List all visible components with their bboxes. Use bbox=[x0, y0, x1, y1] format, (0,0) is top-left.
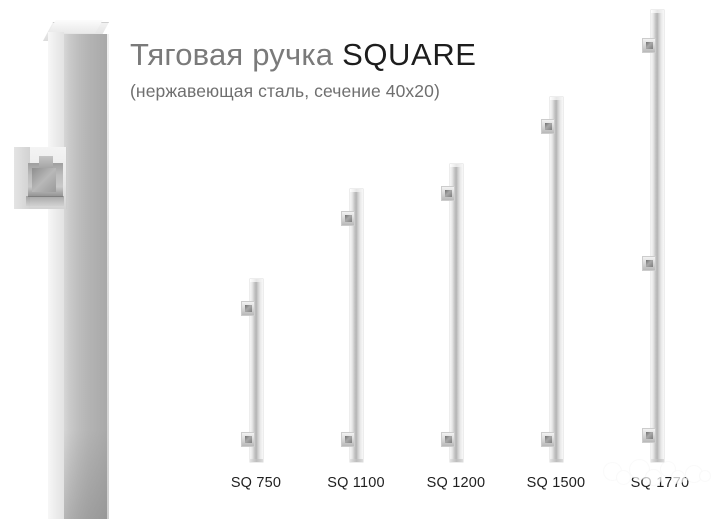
handle-label-sq-1100: SQ 1100 bbox=[327, 475, 385, 491]
handle-bar-bottom-cap bbox=[450, 459, 463, 462]
handle-front-shading bbox=[64, 430, 108, 519]
handle-bracket-2 bbox=[642, 256, 656, 271]
handle-bracket-core bbox=[345, 215, 352, 222]
handle-bar-bottom-cap bbox=[550, 459, 563, 462]
handle-bracket-core bbox=[445, 190, 452, 197]
handle-bar bbox=[350, 189, 363, 462]
handle-bracket-3 bbox=[642, 428, 656, 443]
handle-bar-bottom-cap bbox=[651, 459, 664, 462]
handle-label-sq-1200: SQ 1200 bbox=[427, 475, 486, 491]
handle-bar-bottom-cap bbox=[250, 459, 263, 462]
handle-label-sq-1500: SQ 1500 bbox=[527, 475, 586, 491]
title-model: SQUARE bbox=[342, 37, 477, 72]
handle-bracket-2 bbox=[341, 432, 355, 447]
handle-bracket-core bbox=[245, 436, 252, 443]
mounting-bracket-plate bbox=[39, 156, 53, 168]
handle-bar bbox=[651, 10, 664, 462]
handle-bracket-2 bbox=[441, 432, 455, 447]
handle-bracket-1 bbox=[642, 38, 656, 53]
handle-bar-bottom-cap bbox=[350, 459, 363, 462]
handle-right-edge bbox=[107, 34, 109, 519]
title-russian: Тяговая ручка bbox=[130, 37, 342, 72]
handle-sq-750 bbox=[250, 279, 263, 462]
handle-bar bbox=[550, 97, 563, 462]
mounting-bracket-shadow bbox=[26, 196, 64, 206]
handle-bracket-core bbox=[646, 260, 653, 267]
handle-bracket-2 bbox=[541, 432, 555, 447]
handle-sq-1100 bbox=[350, 189, 363, 462]
handle-bar-top-cap bbox=[350, 189, 363, 192]
handle-bar-top-cap bbox=[450, 164, 463, 167]
handle-sq-1200 bbox=[450, 164, 463, 462]
handle-bracket-core bbox=[545, 123, 552, 130]
handle-bracket-core bbox=[646, 42, 653, 49]
handle-label-sq-750: SQ 750 bbox=[231, 475, 281, 491]
handle-bracket-1 bbox=[541, 119, 555, 134]
handle-bracket-core bbox=[245, 305, 252, 312]
handle-bracket-core bbox=[545, 436, 552, 443]
handle-bar bbox=[450, 164, 463, 462]
handle-bracket-1 bbox=[241, 301, 255, 316]
handle-bracket-core bbox=[445, 436, 452, 443]
handle-bracket-core bbox=[646, 432, 653, 439]
mounting-bracket-cavity-inner bbox=[32, 168, 56, 192]
handle-sq-1770 bbox=[651, 10, 664, 462]
heading-block: Тяговая ручка SQUARE (нержавеющая сталь,… bbox=[130, 36, 477, 102]
page-title: Тяговая ручка SQUARE bbox=[130, 36, 477, 74]
handle-side-face bbox=[48, 32, 64, 519]
handle-bracket-1 bbox=[441, 186, 455, 201]
handle-bracket-2 bbox=[241, 432, 255, 447]
handle-sq-1500 bbox=[550, 97, 563, 462]
subtitle: (нержавеющая сталь, сечение 40x20) bbox=[130, 81, 477, 102]
featured-handle bbox=[0, 0, 130, 519]
handle-bar-top-cap bbox=[651, 10, 664, 13]
handle-label-sq-1770: SQ 1770 bbox=[631, 475, 690, 491]
handle-bar-top-cap bbox=[550, 97, 563, 100]
handle-bracket-1 bbox=[341, 211, 355, 226]
handle-bar-top-cap bbox=[250, 279, 263, 282]
product-image: Тяговая ручка SQUARE (нержавеющая сталь,… bbox=[0, 0, 720, 519]
handle-bracket-core bbox=[345, 436, 352, 443]
